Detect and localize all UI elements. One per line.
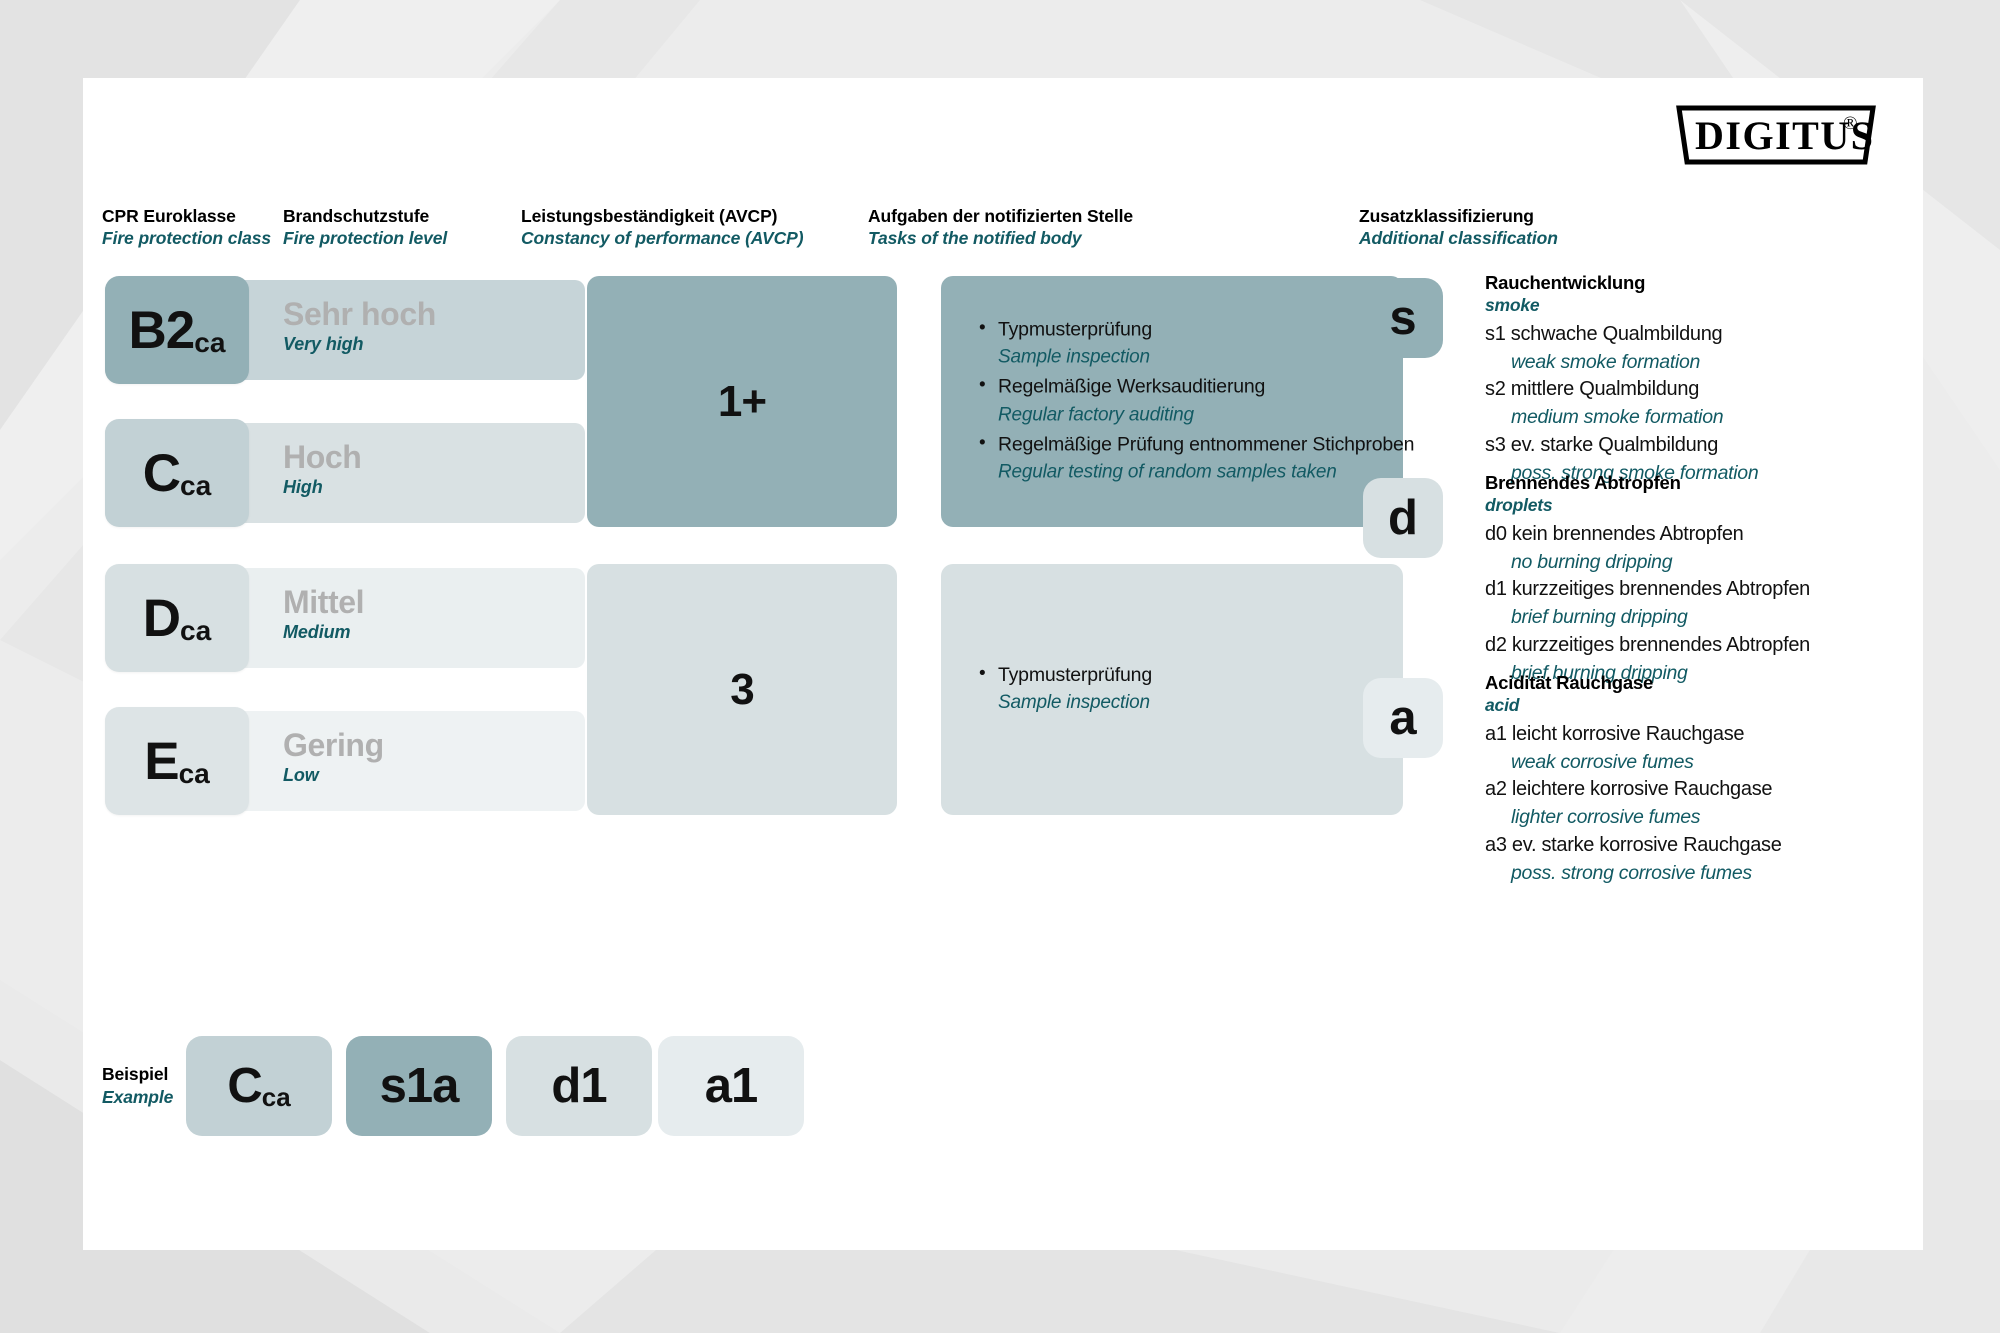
additional-title-en: smoke	[1485, 294, 1758, 317]
example-box-label: Cca	[227, 1062, 290, 1111]
additional-title-en: acid	[1485, 694, 1782, 717]
task-list: Typmusterprüfung Sample inspection	[977, 661, 1385, 719]
column-header-en: Fire protection class	[102, 228, 271, 250]
additional-badge-label: a	[1389, 694, 1416, 743]
additional-entry-en: medium smoke formation	[1485, 404, 1758, 431]
additional-entry-de: s1 schwache Qualmbildung	[1485, 321, 1758, 349]
example-box-s1a[interactable]: s1a	[346, 1036, 492, 1136]
level-text-row-2: Hoch High	[283, 439, 361, 498]
example-box-a1[interactable]: a1	[658, 1036, 804, 1136]
column-header-cpr-class: CPR Euroklasse Fire protection class	[102, 206, 271, 250]
additional-badge-s[interactable]: s	[1363, 278, 1443, 358]
additional-entry-de: s3 ev. starke Qualmbildung	[1485, 432, 1758, 460]
additional-body: Brennendes Abtropfen droplets d0 kein br…	[1485, 472, 1810, 686]
task-item: Regelmäßige Werksauditierung Regular fac…	[977, 373, 1385, 429]
task-box-avcp-1plus[interactable]: Typmusterprüfung Sample inspection Regel…	[941, 276, 1403, 527]
avcp-box-3[interactable]: 3	[587, 564, 897, 815]
example-box-cca[interactable]: Cca	[186, 1036, 332, 1136]
avcp-value: 1+	[718, 377, 766, 427]
class-box-label: Dca	[143, 592, 212, 645]
additional-entry: d0 kein brennendes Abtropfen no burning …	[1485, 521, 1810, 576]
additional-entry: s2 mittlere Qualmbildung medium smoke fo…	[1485, 376, 1758, 431]
example-label-de: Beispiel	[102, 1063, 173, 1086]
registered-mark: ®	[1843, 113, 1857, 134]
task-list: Typmusterprüfung Sample inspection Regel…	[977, 315, 1385, 488]
level-en: High	[283, 477, 361, 498]
task-de: Regelmäßige Werksauditierung	[977, 373, 1385, 401]
task-en: Sample inspection	[977, 689, 1385, 717]
additional-entry-en: weak smoke formation	[1485, 349, 1758, 376]
additional-badge-d[interactable]: d	[1363, 478, 1443, 558]
level-text-row-1: Sehr hoch Very high	[283, 296, 436, 355]
column-header-de: Brandschutzstufe	[283, 206, 447, 228]
additional-entry: a1 leicht korrosive Rauchgase weak corro…	[1485, 721, 1782, 776]
additional-entry: a3 ev. starke korrosive Rauchgase poss. …	[1485, 832, 1782, 887]
avcp-box-1plus[interactable]: 1+	[587, 276, 897, 527]
level-de: Gering	[283, 727, 384, 765]
class-box-label: Eca	[144, 735, 210, 788]
column-header-de: Zusatzklassifizierung	[1359, 206, 1558, 228]
additional-entry-de: a2 leichtere korrosive Rauchgase	[1485, 776, 1782, 804]
example-box-label: a1	[705, 1062, 758, 1111]
class-box-label: B2ca	[129, 304, 226, 357]
task-item: Typmusterprüfung Sample inspection	[977, 661, 1385, 717]
content-card: DIGITUS ® CPR Euroklasse Fire protection…	[83, 78, 1923, 1250]
avcp-value: 3	[730, 665, 753, 715]
task-item: Typmusterprüfung Sample inspection	[977, 315, 1385, 371]
level-text-row-3: Mittel Medium	[283, 584, 364, 643]
additional-title-de: Brennendes Abtropfen	[1485, 472, 1810, 494]
additional-entry-de: a1 leicht korrosive Rauchgase	[1485, 721, 1782, 749]
column-header-de: Aufgaben der notifizierten Stelle	[868, 206, 1133, 228]
task-de: Typmusterprüfung	[977, 661, 1385, 689]
task-de: Typmusterprüfung	[977, 315, 1385, 343]
additional-body: Rauchentwicklung smoke s1 schwache Qualm…	[1485, 272, 1758, 486]
task-en: Regular factory auditing	[977, 401, 1385, 429]
class-box-b2ca[interactable]: B2ca	[105, 276, 249, 384]
additional-badge-label: s	[1389, 294, 1416, 343]
additional-title-de: Acidität Rauchgase	[1485, 672, 1782, 694]
task-en: Regular testing of random samples taken	[977, 459, 1385, 487]
class-box-label: Cca	[143, 447, 212, 500]
column-header-en: Constancy of performance (AVCP)	[521, 228, 803, 250]
additional-entry-de: d1 kurzzeitiges brennendes Abtropfen	[1485, 576, 1810, 604]
column-header-avcp: Leistungsbeständigkeit (AVCP) Constancy …	[521, 206, 803, 250]
level-de: Sehr hoch	[283, 296, 436, 334]
additional-title-en: droplets	[1485, 494, 1810, 517]
example-box-label: d1	[551, 1062, 606, 1111]
additional-badge-a[interactable]: a	[1363, 678, 1443, 758]
example-box-label: s1a	[380, 1062, 459, 1111]
additional-entry: a2 leichtere korrosive Rauchgase lighter…	[1485, 776, 1782, 831]
level-en: Low	[283, 765, 384, 786]
additional-entry-en: no burning dripping	[1485, 549, 1810, 576]
column-header-notified-body: Aufgaben der notifizierten Stelle Tasks …	[868, 206, 1133, 250]
example-label: Beispiel Example	[102, 1063, 173, 1109]
class-box-cca[interactable]: Cca	[105, 419, 249, 527]
additional-entry: d1 kurzzeitiges brennendes Abtropfen bri…	[1485, 576, 1810, 631]
additional-entry-en: weak corrosive fumes	[1485, 749, 1782, 776]
column-header-en: Fire protection level	[283, 228, 447, 250]
additional-entry: s1 schwache Qualmbildung weak smoke form…	[1485, 321, 1758, 376]
class-box-eca[interactable]: Eca	[105, 707, 249, 815]
column-header-protection-level: Brandschutzstufe Fire protection level	[283, 206, 447, 250]
additional-entry-de: d2 kurzzeitiges brennendes Abtropfen	[1485, 632, 1810, 660]
additional-entry-en: brief burning dripping	[1485, 604, 1810, 631]
column-header-de: Leistungsbeständigkeit (AVCP)	[521, 206, 803, 228]
level-de: Mittel	[283, 584, 364, 622]
level-text-row-4: Gering Low	[283, 727, 384, 786]
example-box-d1[interactable]: d1	[506, 1036, 652, 1136]
class-box-dca[interactable]: Dca	[105, 564, 249, 672]
additional-entry-de: d0 kein brennendes Abtropfen	[1485, 521, 1810, 549]
task-box-avcp-3[interactable]: Typmusterprüfung Sample inspection	[941, 564, 1403, 815]
level-de: Hoch	[283, 439, 361, 477]
column-header-en: Additional classification	[1359, 228, 1558, 250]
column-header-de: CPR Euroklasse	[102, 206, 271, 228]
additional-title-de: Rauchentwicklung	[1485, 272, 1758, 294]
task-en: Sample inspection	[977, 343, 1385, 371]
additional-body: Acidität Rauchgase acid a1 leicht korros…	[1485, 672, 1782, 886]
example-label-en: Example	[102, 1086, 173, 1109]
additional-entry-en: lighter corrosive fumes	[1485, 804, 1782, 831]
level-en: Medium	[283, 622, 364, 643]
additional-entry-en: poss. strong corrosive fumes	[1485, 860, 1782, 887]
task-item: Regelmäßige Prüfung entnommener Stichpro…	[977, 430, 1385, 486]
additional-entry-de: a3 ev. starke korrosive Rauchgase	[1485, 832, 1782, 860]
digitus-logo: DIGITUS ®	[1675, 104, 1877, 166]
level-en: Very high	[283, 334, 436, 355]
additional-badge-label: d	[1388, 494, 1418, 543]
additional-entry-de: s2 mittlere Qualmbildung	[1485, 376, 1758, 404]
column-header-en: Tasks of the notified body	[868, 228, 1133, 250]
column-header-additional-classification: Zusatzklassifizierung Additional classif…	[1359, 206, 1558, 250]
task-de: Regelmäßige Prüfung entnommener Stichpro…	[977, 430, 1385, 458]
